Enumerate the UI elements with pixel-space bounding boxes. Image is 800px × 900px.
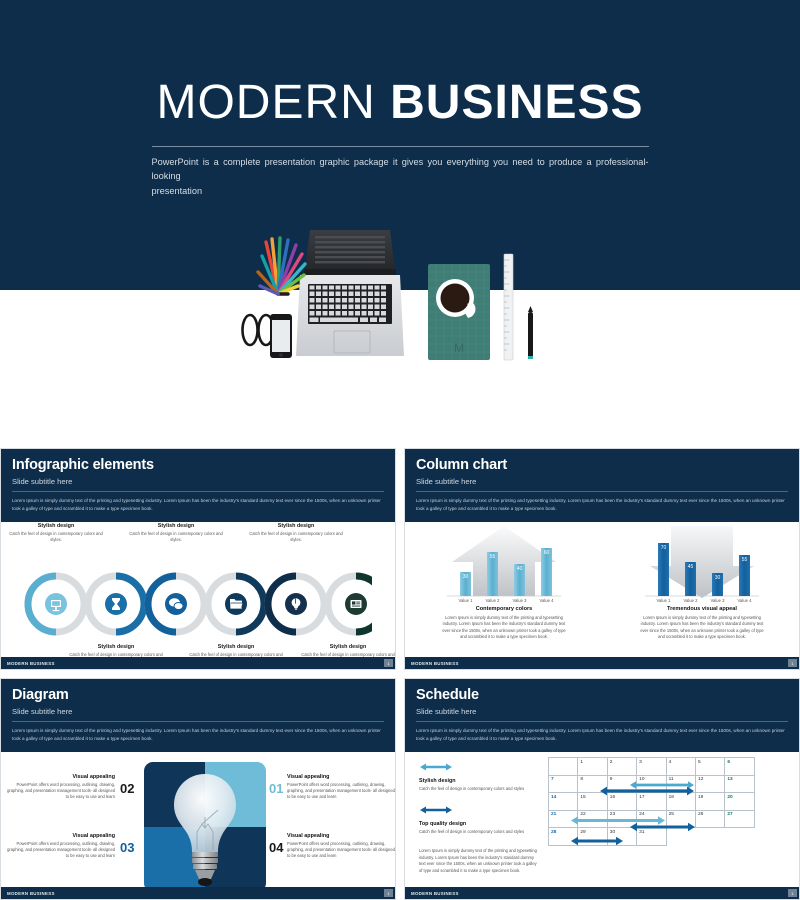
- header-divider: [416, 491, 788, 492]
- info-label-title: Stylish design: [129, 523, 223, 529]
- calendar-cell[interactable]: 28: [549, 828, 578, 846]
- diagram-heading: Visual appealing: [287, 774, 396, 780]
- calendar-cell[interactable]: 23: [607, 810, 636, 828]
- calendar-cell[interactable]: 25: [666, 810, 695, 828]
- calendar-row: 1 2 3 4 5 6: [549, 758, 755, 776]
- slide-content: 30 55 40 60 Value 1 Value 2 Value 3 Valu…: [405, 522, 799, 670]
- diagram-number-01: 01: [269, 781, 283, 796]
- chart-caption-2: Tremendous visual appeal Lorem Ipsum is …: [603, 606, 800, 640]
- calendar-cell[interactable]: [549, 758, 578, 776]
- diagram-text-04: Visual appealing PowerPoint offers word …: [287, 833, 396, 859]
- cat-label-3: Value 3: [513, 598, 528, 603]
- info-ring-5: [268, 576, 324, 632]
- schedule-legend: Stylish design Catch the feel of design …: [419, 758, 537, 874]
- bar-label-3: 30: [715, 575, 721, 581]
- slide-content: Stylish design Catch the feel of design …: [1, 522, 395, 670]
- calendar-cell[interactable]: 24: [637, 810, 666, 828]
- info-ring-4: [208, 576, 264, 632]
- bar-label-4: 55: [742, 557, 748, 563]
- footer-page-number: 1: [788, 889, 797, 897]
- calendar-row: 21 22 23 24 25 26 27: [549, 810, 755, 828]
- calendar-grid[interactable]: 1 2 3 4 5 6 7 8 9 10 11: [548, 757, 755, 846]
- diagram-heading: Visual appealing: [287, 833, 396, 839]
- slide-diagram[interactable]: Diagram Slide subtitle here Lorem Ipsum …: [0, 678, 396, 900]
- cat-label-2: Value 2: [486, 598, 501, 603]
- slide-title: Schedule: [416, 687, 788, 703]
- legend-desc-1: Catch the feel of design in contemporary…: [419, 786, 537, 792]
- caption-title: Tremendous visual appeal: [603, 606, 800, 612]
- diagram-desc: PowerPoint offers word processing, outli…: [287, 782, 396, 800]
- title-word-modern: MODERN: [156, 76, 375, 129]
- calendar-cell[interactable]: 6: [725, 758, 754, 776]
- calendar-cell[interactable]: 26: [695, 810, 724, 828]
- calendar-cell[interactable]: 22: [578, 810, 607, 828]
- footer-brand: MODERN BUSINESS: [411, 661, 459, 666]
- cat-label-3: Value 3: [711, 598, 726, 603]
- presentation-preview-page: MODERN BUSINESS PowerPoint is a complete…: [0, 0, 800, 900]
- info-ring-1: [28, 576, 84, 632]
- diagram-number-03: 03: [120, 840, 134, 855]
- slide-header: Diagram Slide subtitle here Lorem Ipsum …: [1, 679, 395, 752]
- caption-desc: Lorem Ipsum is simply dummy text of the …: [405, 615, 603, 640]
- calendar-cell[interactable]: 29: [578, 828, 607, 846]
- calendar-cell[interactable]: 3: [637, 758, 666, 776]
- slide-schedule[interactable]: Schedule Slide subtitle here Lorem Ipsum…: [404, 678, 800, 900]
- info-label-desc: Catch the feel of design in contemporary…: [9, 531, 103, 543]
- title-subtitle-line1: PowerPoint is a complete presentation gr…: [152, 156, 649, 184]
- schedule-area: Stylish design Catch the feel of design …: [405, 752, 799, 900]
- chart-tremendous-visual-appeal: 70 45 30 55 Value 1 Value 2 Value 3 Valu…: [603, 522, 800, 670]
- diagram-desc: PowerPoint offers word processing, outli…: [287, 841, 396, 859]
- slide-content: Stylish design Catch the feel of design …: [405, 752, 799, 900]
- slide-thumbnail-grid: Infographic elements Slide subtitle here…: [0, 448, 800, 900]
- footer-brand: MODERN BUSINESS: [7, 661, 55, 666]
- diagram-heading: Visual appealing: [5, 774, 115, 780]
- slide-column-chart[interactable]: Column chart Slide subtitle here Lorem I…: [404, 448, 800, 670]
- title-slide: MODERN BUSINESS PowerPoint is a complete…: [0, 0, 800, 440]
- slide-footer: MODERN BUSINESS 1: [405, 657, 799, 669]
- infographic-chain-area: Stylish design Catch the feel of design …: [1, 522, 395, 670]
- diagram-number-04: 04: [269, 840, 283, 855]
- slide-footer: MODERN BUSINESS 1: [1, 657, 395, 669]
- calendar-row: 14 15 16 17 18 19 20: [549, 793, 755, 811]
- diagram-number-02: 02: [120, 781, 134, 796]
- calendar-cell[interactable]: 2: [607, 758, 636, 776]
- title-subtitle-line2: presentation: [152, 184, 649, 199]
- glasses: [243, 315, 274, 345]
- calendar-cell[interactable]: 17: [637, 793, 666, 811]
- calendar-cell[interactable]: 16: [607, 793, 636, 811]
- calendar-cell[interactable]: 1: [578, 758, 607, 776]
- colored-pencils: [258, 238, 305, 294]
- caption-desc: Lorem Ipsum is simply dummy text of the …: [603, 615, 800, 640]
- slide-footer: MODERN BUSINESS 1: [1, 887, 395, 899]
- bar-label-2: 55: [490, 554, 496, 560]
- info-label-3: Stylish design Catch the feel of design …: [129, 523, 223, 543]
- slide-title: Diagram: [12, 687, 384, 703]
- calendar-row: 28 29 30 31: [549, 828, 755, 846]
- bar-label-3: 40: [517, 566, 523, 572]
- footer-page-number: 1: [384, 659, 393, 667]
- calendar-cell[interactable]: 20: [725, 793, 754, 811]
- calendar-cell[interactable]: 18: [666, 793, 695, 811]
- legend-desc-2: Catch the feel of design in contemporary…: [419, 829, 537, 835]
- calendar-cell: [725, 828, 754, 846]
- info-label-title: Stylish design: [249, 523, 343, 529]
- footer-page-number: 1: [788, 659, 797, 667]
- calendar-cell: [695, 828, 724, 846]
- info-ring-6: [328, 576, 372, 632]
- slide-body-text: Lorem Ipsum is simply dummy text of the …: [416, 497, 788, 513]
- diagram-area: 01 Visual appealing PowerPoint offers wo…: [1, 752, 395, 900]
- info-label-title: Stylish design: [9, 523, 103, 529]
- info-label-title: Stylish design: [301, 644, 395, 650]
- diagram-desc: PowerPoint offers word processing, outli…: [5, 841, 115, 859]
- slide-infographic-elements[interactable]: Infographic elements Slide subtitle here…: [0, 448, 396, 670]
- smartphone: [270, 314, 292, 358]
- legend-title-2: Top quality design: [419, 821, 537, 827]
- slide-body-text: Lorem Ipsum is simply dummy text of the …: [416, 727, 788, 743]
- bar-label-2: 45: [688, 564, 694, 570]
- calendar-cell[interactable]: 8: [578, 775, 607, 793]
- svg-text:M: M: [454, 341, 464, 355]
- cat-label-2: Value 2: [684, 598, 699, 603]
- slide-title: Infographic elements: [12, 457, 384, 473]
- caption-title: Contemporary colors: [405, 606, 603, 612]
- calendar-cell[interactable]: 21: [549, 810, 578, 828]
- chart-canvas-2: 70 45 30 55 Value 1 Value 2 Value 3 Valu…: [603, 522, 800, 606]
- title-block: MODERN BUSINESS PowerPoint is a complete…: [0, 78, 800, 199]
- slide-body-text: Lorem Ipsum is simply dummy text of the …: [12, 727, 384, 743]
- diagram-heading: Visual appealing: [5, 833, 115, 839]
- slide-header: Column chart Slide subtitle here Lorem I…: [405, 449, 799, 522]
- bar-label-1: 70: [661, 545, 667, 551]
- cat-label-4: Value 4: [540, 598, 555, 603]
- lightbulb-quadrant-graphic: [144, 762, 266, 892]
- calendar-cell[interactable]: 7: [549, 775, 578, 793]
- schedule-paragraph: Lorem Ipsum is simply dummy text of the …: [419, 848, 537, 874]
- calendar-cell[interactable]: 9: [607, 775, 636, 793]
- calendar-cell[interactable]: 19: [695, 793, 724, 811]
- cat-label-1: Value 1: [657, 598, 672, 603]
- info-label-title: Stylish design: [69, 644, 163, 650]
- legend-arrow-icon-light: [419, 763, 453, 771]
- slide-content: 01 Visual appealing PowerPoint offers wo…: [1, 752, 395, 900]
- slide-subtitle: Slide subtitle here: [12, 477, 384, 486]
- chart-contemporary-colors: 30 55 40 60 Value 1 Value 2 Value 3 Valu…: [405, 522, 603, 670]
- footer-brand: MODERN BUSINESS: [7, 891, 55, 896]
- slide-subtitle: Slide subtitle here: [416, 477, 788, 486]
- column-chart-area: 30 55 40 60 Value 1 Value 2 Value 3 Valu…: [405, 522, 799, 670]
- chart-caption-1: Contemporary colors Lorem Ipsum is simpl…: [405, 606, 603, 640]
- calendar-cell: [666, 828, 695, 846]
- title-divider: [152, 146, 649, 147]
- calendar-row: 7 8 9 10 11 12 13: [549, 775, 755, 793]
- calendar-cell[interactable]: 30: [607, 828, 636, 846]
- info-label-5: Stylish design Catch the feel of design …: [249, 523, 343, 543]
- bar-label-1: 30: [463, 574, 469, 580]
- header-divider: [12, 491, 384, 492]
- diagram-desc: PowerPoint offers word processing, outli…: [5, 782, 115, 800]
- diagram-text-03: Visual appealing PowerPoint offers word …: [5, 833, 115, 859]
- info-label-desc: Catch the feel of design in contemporary…: [249, 531, 343, 543]
- legend-title-1: Stylish design: [419, 778, 537, 784]
- cat-label-4: Value 4: [738, 598, 753, 603]
- calendar-cell[interactable]: 15: [578, 793, 607, 811]
- info-label-desc: Catch the feel of design in contemporary…: [129, 531, 223, 543]
- diagram-text-02: Visual appealing PowerPoint offers word …: [5, 774, 115, 800]
- desk-photo: M: [232, 228, 568, 388]
- slide-title: Column chart: [416, 457, 788, 473]
- header-divider: [12, 721, 384, 722]
- footer-page-number: 1: [384, 889, 393, 897]
- slide-subtitle: Slide subtitle here: [416, 707, 788, 716]
- calendar-cell[interactable]: 5: [695, 758, 724, 776]
- slide-footer: MODERN BUSINESS 1: [405, 887, 799, 899]
- diagram-text-01: Visual appealing PowerPoint offers word …: [287, 774, 396, 800]
- slide-header: Schedule Slide subtitle here Lorem Ipsum…: [405, 679, 799, 752]
- legend-arrow-icon-dark: [419, 806, 453, 814]
- calendar-cell[interactable]: 4: [666, 758, 695, 776]
- slide-header: Infographic elements Slide subtitle here…: [1, 449, 395, 522]
- info-label-title: Stylish design: [189, 644, 283, 650]
- calendar-cell[interactable]: 14: [549, 793, 578, 811]
- calendar-cell[interactable]: 27: [725, 810, 754, 828]
- pen: [528, 306, 533, 359]
- calendar-cell[interactable]: 11: [666, 775, 695, 793]
- footer-brand: MODERN BUSINESS: [411, 891, 459, 896]
- ruler: [504, 254, 513, 360]
- slide-subtitle: Slide subtitle here: [12, 707, 384, 716]
- calendar-cell[interactable]: 10: [637, 775, 666, 793]
- chart-canvas-1: 30 55 40 60 Value 1 Value 2 Value 3 Valu…: [405, 522, 603, 606]
- bar-label-4: 60: [544, 550, 550, 556]
- calendar-cell[interactable]: 13: [725, 775, 754, 793]
- header-divider: [416, 721, 788, 722]
- page-title: MODERN BUSINESS: [0, 78, 800, 128]
- infographic-chain: [24, 565, 372, 643]
- calendar-cell[interactable]: 12: [695, 775, 724, 793]
- title-word-business: BUSINESS: [390, 76, 643, 129]
- info-ring-3: [148, 576, 204, 632]
- cat-label-1: Value 1: [459, 598, 474, 603]
- slide-body-text: Lorem Ipsum is simply dummy text of the …: [12, 497, 384, 513]
- info-ring-2: [88, 576, 144, 632]
- info-label-1: Stylish design Catch the feel of design …: [9, 523, 103, 543]
- calendar-cell[interactable]: 31: [637, 828, 666, 846]
